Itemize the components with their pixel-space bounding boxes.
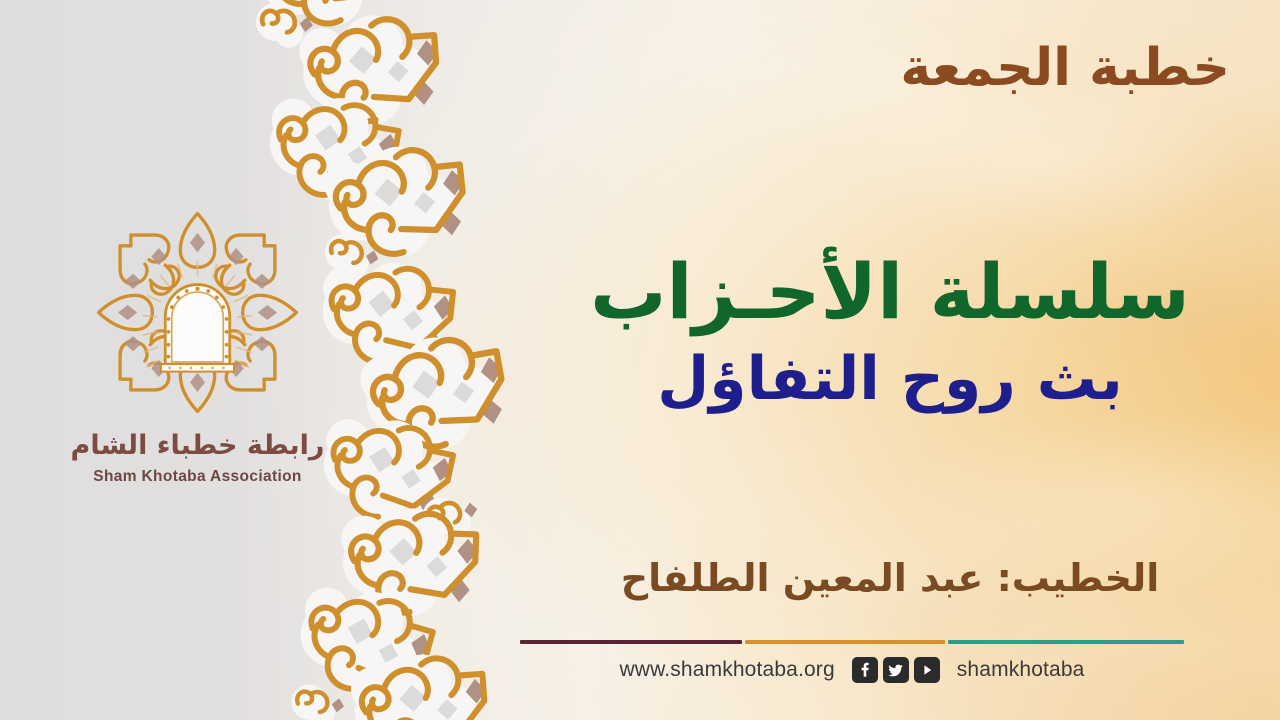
divider-segment-teal — [948, 640, 1184, 644]
social-icons — [852, 657, 940, 683]
kicker-khutbat-aljumuah: خطبة الجمعة — [900, 42, 1230, 94]
youtube-icon[interactable] — [914, 657, 940, 683]
tri-color-divider — [520, 640, 1184, 644]
khutbah-announcement-slide: رابطة خطباء الشام Sham Khotaba Associati… — [0, 0, 1280, 720]
footer-row: www.shamkhotaba.org — [520, 657, 1184, 683]
facebook-icon[interactable] — [852, 657, 878, 683]
divider-segment-maroon — [520, 640, 742, 644]
association-logo: رابطة خطباء الشام Sham Khotaba Associati… — [55, 205, 340, 486]
title-group: سلسلة الأحـزاب بث روح التفاؤل — [530, 252, 1250, 412]
mihrab-arch-star-ornament-icon — [90, 205, 305, 420]
social-handle[interactable]: shamkhotaba — [957, 658, 1085, 682]
page-title: سلسلة الأحـزاب — [530, 252, 1250, 332]
divider-segment-orange — [745, 640, 945, 644]
page-subtitle: بث روح التفاؤل — [530, 346, 1250, 412]
speaker-name: الخطيب: عبد المعين الطلفاح — [530, 558, 1250, 600]
website-url[interactable]: www.shamkhotaba.org — [619, 658, 834, 682]
footer: www.shamkhotaba.org — [520, 640, 1184, 683]
logo-name-english: Sham Khotaba Association — [55, 468, 340, 486]
logo-name-arabic: رابطة خطباء الشام — [55, 430, 340, 461]
twitter-icon[interactable] — [883, 657, 909, 683]
content-column: خطبة الجمعة سلسلة الأحـزاب بث روح التفاؤ… — [530, 0, 1250, 720]
